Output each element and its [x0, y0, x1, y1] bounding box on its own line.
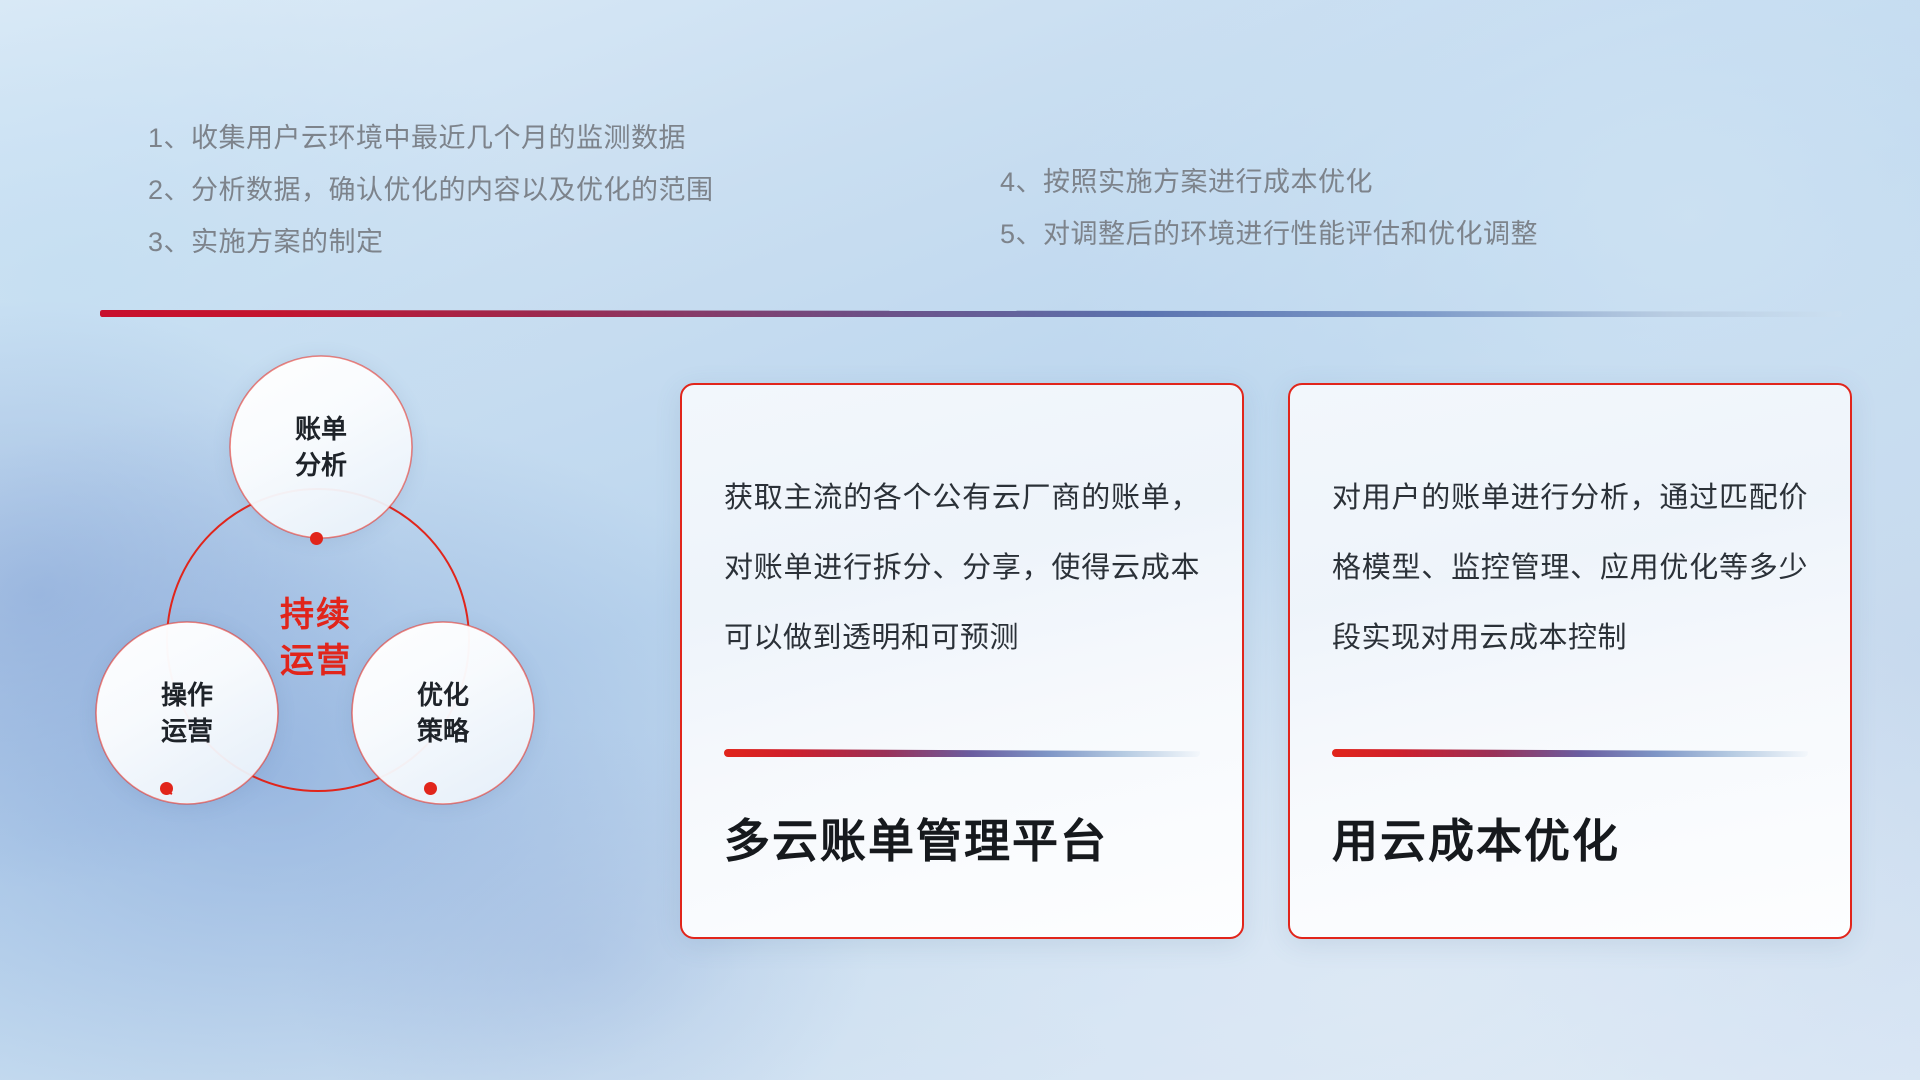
- step-item-2: 2、分析数据，确认优化的内容以及优化的范围: [148, 164, 714, 216]
- continuous-operation-diagram: 账单 分析 操作 运营 优化 策略 持续 运营: [96, 350, 626, 950]
- card-multi-cloud-billing-platform[interactable]: 获取主流的各个公有云厂商的账单，对账单进行拆分、分享，使得云成本可以做到透明和可…: [680, 383, 1244, 939]
- card-divider-rule: [1332, 749, 1808, 757]
- card-divider-rule: [724, 749, 1200, 757]
- center-label-line1: 持续: [280, 592, 352, 638]
- slide-canvas: 1、收集用户云环境中最近几个月的监测数据 2、分析数据，确认优化的内容以及优化的…: [0, 0, 1920, 1080]
- card-body-text: 对用户的账单进行分析，通过匹配价格模型、监控管理、应用优化等多少段实现对用云成本…: [1332, 463, 1808, 673]
- connector-dot-top-icon: [310, 532, 323, 545]
- step-item-5: 5、对调整后的环境进行性能评估和优化调整: [1000, 208, 1538, 260]
- card-title: 多云账单管理平台: [724, 805, 1212, 871]
- connector-dot-left-icon: [160, 782, 173, 795]
- section-divider-rule: [100, 310, 1842, 317]
- steps-left-column: 1、收集用户云环境中最近几个月的监测数据 2、分析数据，确认优化的内容以及优化的…: [148, 112, 714, 268]
- card-cloud-cost-optimization[interactable]: 对用户的账单进行分析，通过匹配价格模型、监控管理、应用优化等多少段实现对用云成本…: [1288, 383, 1852, 939]
- steps-right-column: 4、按照实施方案进行成本优化 5、对调整后的环境进行性能评估和优化调整: [1000, 156, 1538, 260]
- step-item-3: 3、实施方案的制定: [148, 216, 714, 268]
- center-label-line2: 运营: [280, 638, 352, 684]
- step-item-1: 1、收集用户云环境中最近几个月的监测数据: [148, 112, 714, 164]
- card-title: 用云成本优化: [1332, 805, 1820, 871]
- card-body-text: 获取主流的各个公有云厂商的账单，对账单进行拆分、分享，使得云成本可以做到透明和可…: [724, 463, 1200, 673]
- connector-dot-right-icon: [424, 782, 437, 795]
- step-item-4: 4、按照实施方案进行成本优化: [1000, 156, 1538, 208]
